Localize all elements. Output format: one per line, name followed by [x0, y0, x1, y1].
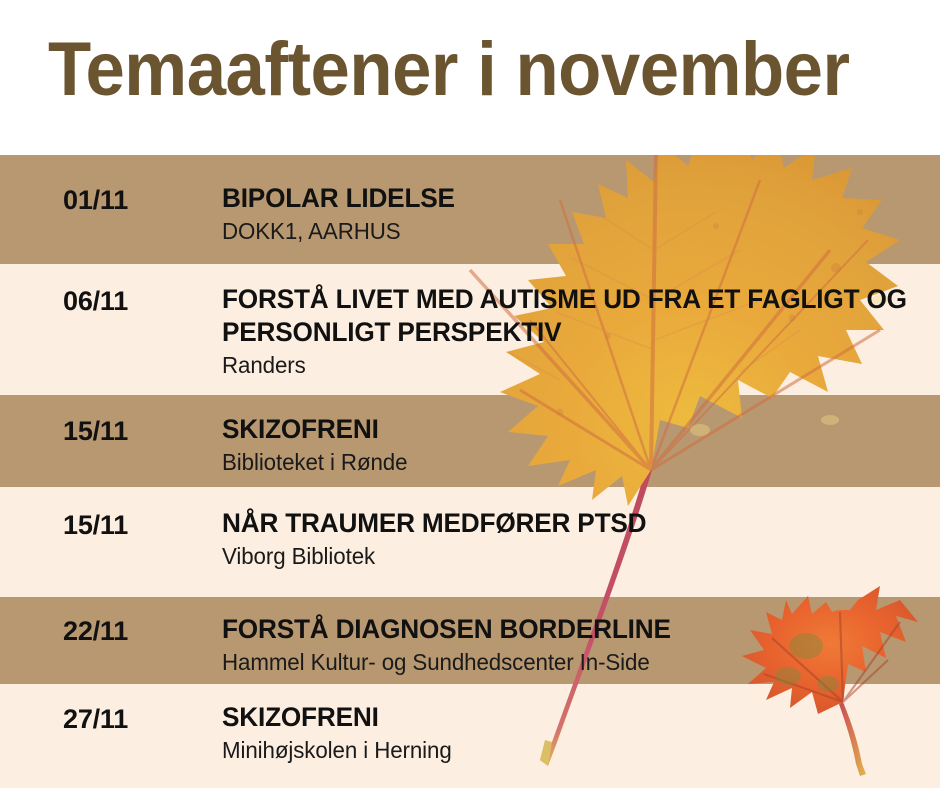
event-body: BIPOLAR LIDELSE DOKK1, AARHUS	[222, 182, 930, 245]
list-item[interactable]: 06/11 FORSTÅ LIVET MED AUTISME UD FRA ET…	[0, 264, 940, 395]
list-item[interactable]: 15/11 SKIZOFRENI Biblioteket i Rønde	[0, 395, 940, 487]
event-venue: Viborg Bibliotek	[222, 542, 909, 570]
poster-header: Temaaftener i november	[0, 0, 940, 155]
event-body: SKIZOFRENI Minihøjskolen i Herning	[222, 701, 930, 764]
event-title: FORSTÅ DIAGNOSEN BORDERLINE	[222, 613, 909, 646]
event-venue: Biblioteket i Rønde	[222, 448, 909, 476]
event-title: SKIZOFRENI	[222, 413, 909, 446]
event-date: 06/11	[63, 286, 128, 316]
event-title: SKIZOFRENI	[222, 701, 909, 734]
event-date: 27/11	[63, 704, 128, 734]
event-venue: Minihøjskolen i Herning	[222, 736, 909, 764]
event-date: 15/11	[63, 416, 128, 446]
event-date: 01/11	[63, 185, 128, 215]
event-title: FORSTÅ LIVET MED AUTISME UD FRA ET FAGLI…	[222, 283, 909, 349]
event-title: NÅR TRAUMER MEDFØRER PTSD	[222, 507, 909, 540]
list-item[interactable]: 22/11 FORSTÅ DIAGNOSEN BORDERLINE Hammel…	[0, 597, 940, 684]
event-body: FORSTÅ DIAGNOSEN BORDERLINE Hammel Kultu…	[222, 613, 930, 676]
poster-canvas: Temaaftener i november 01/11 BIPOLAR LID…	[0, 0, 940, 788]
event-date: 22/11	[63, 616, 128, 646]
list-item[interactable]: 15/11 NÅR TRAUMER MEDFØRER PTSD Viborg B…	[0, 487, 940, 597]
list-item[interactable]: 01/11 BIPOLAR LIDELSE DOKK1, AARHUS	[0, 155, 940, 264]
event-date: 15/11	[63, 510, 128, 540]
event-body: FORSTÅ LIVET MED AUTISME UD FRA ET FAGLI…	[222, 283, 930, 379]
page-title: Temaaftener i november	[48, 28, 850, 112]
event-title: BIPOLAR LIDELSE	[222, 182, 909, 215]
event-venue: Hammel Kultur- og Sundhedscenter In-Side	[222, 648, 909, 676]
event-venue: Randers	[222, 351, 909, 379]
list-item[interactable]: 27/11 SKIZOFRENI Minihøjskolen i Herning	[0, 684, 940, 788]
event-body: NÅR TRAUMER MEDFØRER PTSD Viborg Bibliot…	[222, 507, 930, 570]
event-body: SKIZOFRENI Biblioteket i Rønde	[222, 413, 930, 476]
event-venue: DOKK1, AARHUS	[222, 217, 909, 245]
